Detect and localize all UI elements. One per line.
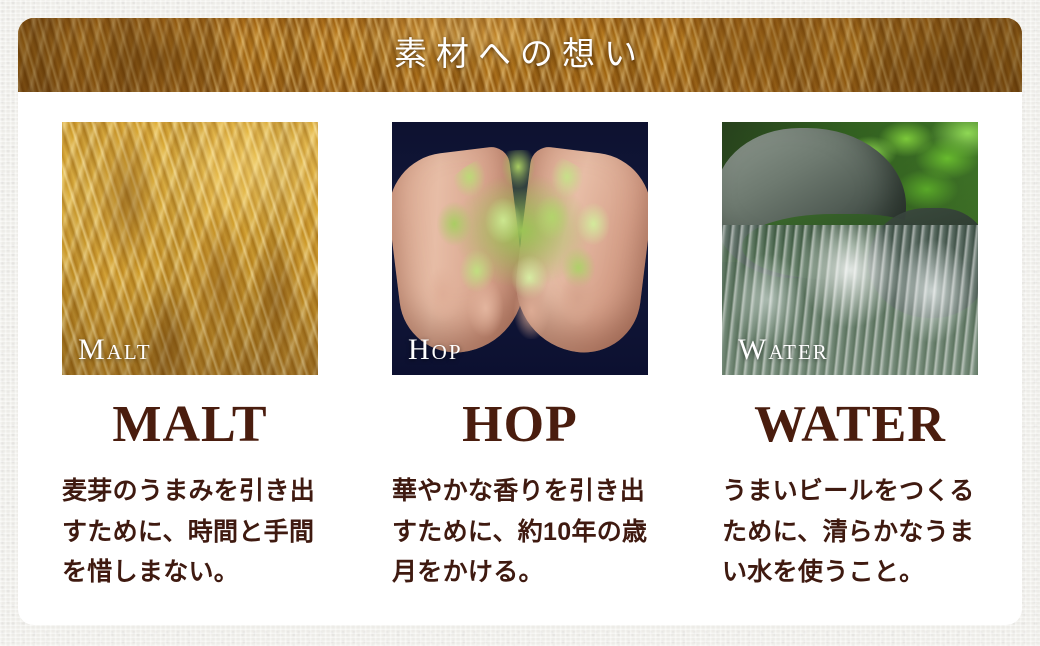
fingers-shape (424, 265, 616, 339)
ingredient-columns: Malt MALT 麦芽のうまみを引き出すために、時間と手間を惜しまない。 Ho… (18, 92, 1022, 593)
ingredient-card-water: Water WATER うまいビールをつくるために、清らかなうまい水を使うこと。 (722, 122, 978, 593)
water-image: Water (722, 122, 978, 375)
ingredient-card-malt: Malt MALT 麦芽のうまみを引き出すために、時間と手間を惜しまない。 (62, 122, 318, 593)
water-description: うまいビールをつくるために、清らかなうまい水を使うこと。 (722, 471, 978, 593)
malt-description: 麦芽のうまみを引き出すために、時間と手間を惜しまない。 (62, 471, 318, 593)
hop-image-caption: Hop (408, 335, 463, 365)
water-image-caption: Water (738, 335, 829, 365)
hop-image: Hop (392, 122, 648, 375)
malt-image: Malt (62, 122, 318, 375)
water-title: WATER (722, 399, 978, 451)
malt-title: MALT (62, 399, 318, 451)
content-card: 素材への想い Malt MALT 麦芽のうまみを引き出すために、時間と手間を惜し… (18, 18, 1022, 625)
malt-image-caption: Malt (78, 335, 152, 365)
hop-title: HOP (392, 399, 648, 451)
hop-description: 華やかな香りを引き出すために、約10年の歳月をかける。 (392, 471, 648, 593)
header-banner: 素材への想い (18, 18, 1022, 92)
ingredient-card-hop: Hop HOP 華やかな香りを引き出すために、約10年の歳月をかける。 (392, 122, 648, 593)
page-title: 素材への想い (18, 18, 1022, 92)
